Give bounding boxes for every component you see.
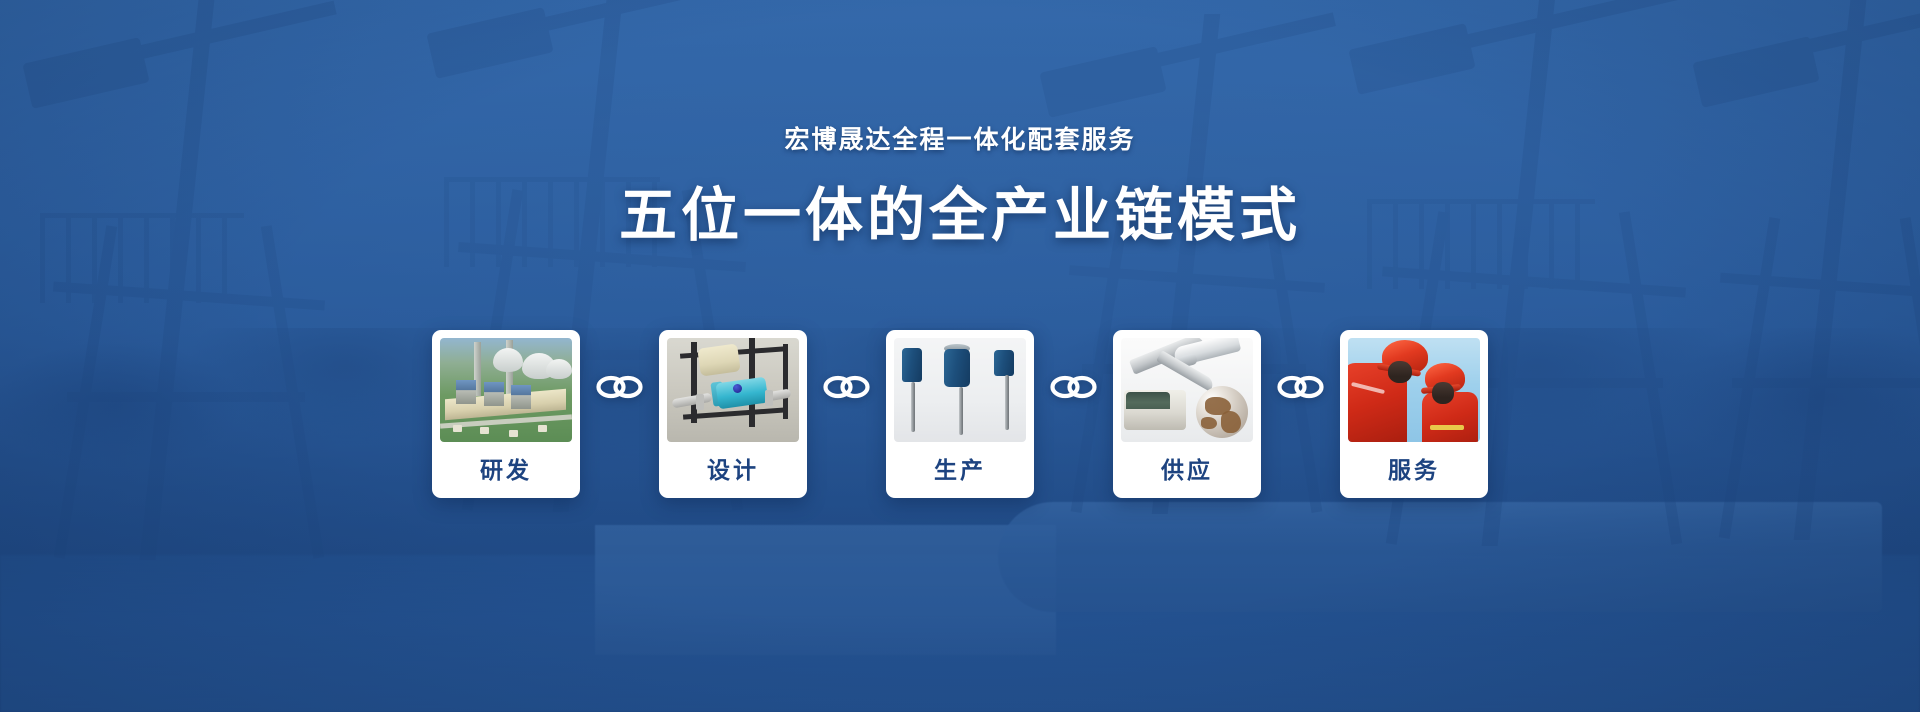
chain-card-fuwu[interactable]: 服务	[1340, 330, 1488, 498]
chain-card-label: 设计	[707, 442, 759, 498]
chain-card-label: 服务	[1388, 442, 1440, 498]
hero-banner: 宏博晟达全程一体化配套服务 五位一体的全产业链模式 研发	[0, 0, 1920, 712]
chain-link-icon	[823, 364, 870, 411]
chain-card-label: 研发	[480, 442, 532, 498]
chain-card-sheji[interactable]: 设计	[659, 330, 807, 498]
banner-headline: 五位一体的全产业链模式	[0, 168, 1920, 252]
thumbnail-cad-pump-skid	[667, 338, 799, 442]
thumbnail-level-instruments	[894, 338, 1026, 442]
banner-content: 宏博晟达全程一体化配套服务 五位一体的全产业链模式 研发	[0, 0, 1920, 712]
chain-link-icon	[1277, 364, 1324, 411]
chain-card-label: 生产	[934, 442, 986, 498]
chain-card-label: 供应	[1161, 442, 1213, 498]
chain-card-gongying[interactable]: 供应	[1113, 330, 1261, 498]
value-chain-row: 研发	[0, 330, 1920, 498]
chain-card-yanfa[interactable]: 研发	[432, 330, 580, 498]
thumbnail-logistics	[1121, 338, 1253, 442]
chain-link-icon	[1050, 364, 1097, 411]
banner-subtitle: 宏博晟达全程一体化配套服务	[0, 120, 1920, 156]
chain-link-icon	[596, 364, 643, 411]
thumbnail-power-plant-complex	[440, 338, 572, 442]
chain-card-shengchan[interactable]: 生产	[886, 330, 1034, 498]
thumbnail-field-workers	[1348, 338, 1480, 442]
